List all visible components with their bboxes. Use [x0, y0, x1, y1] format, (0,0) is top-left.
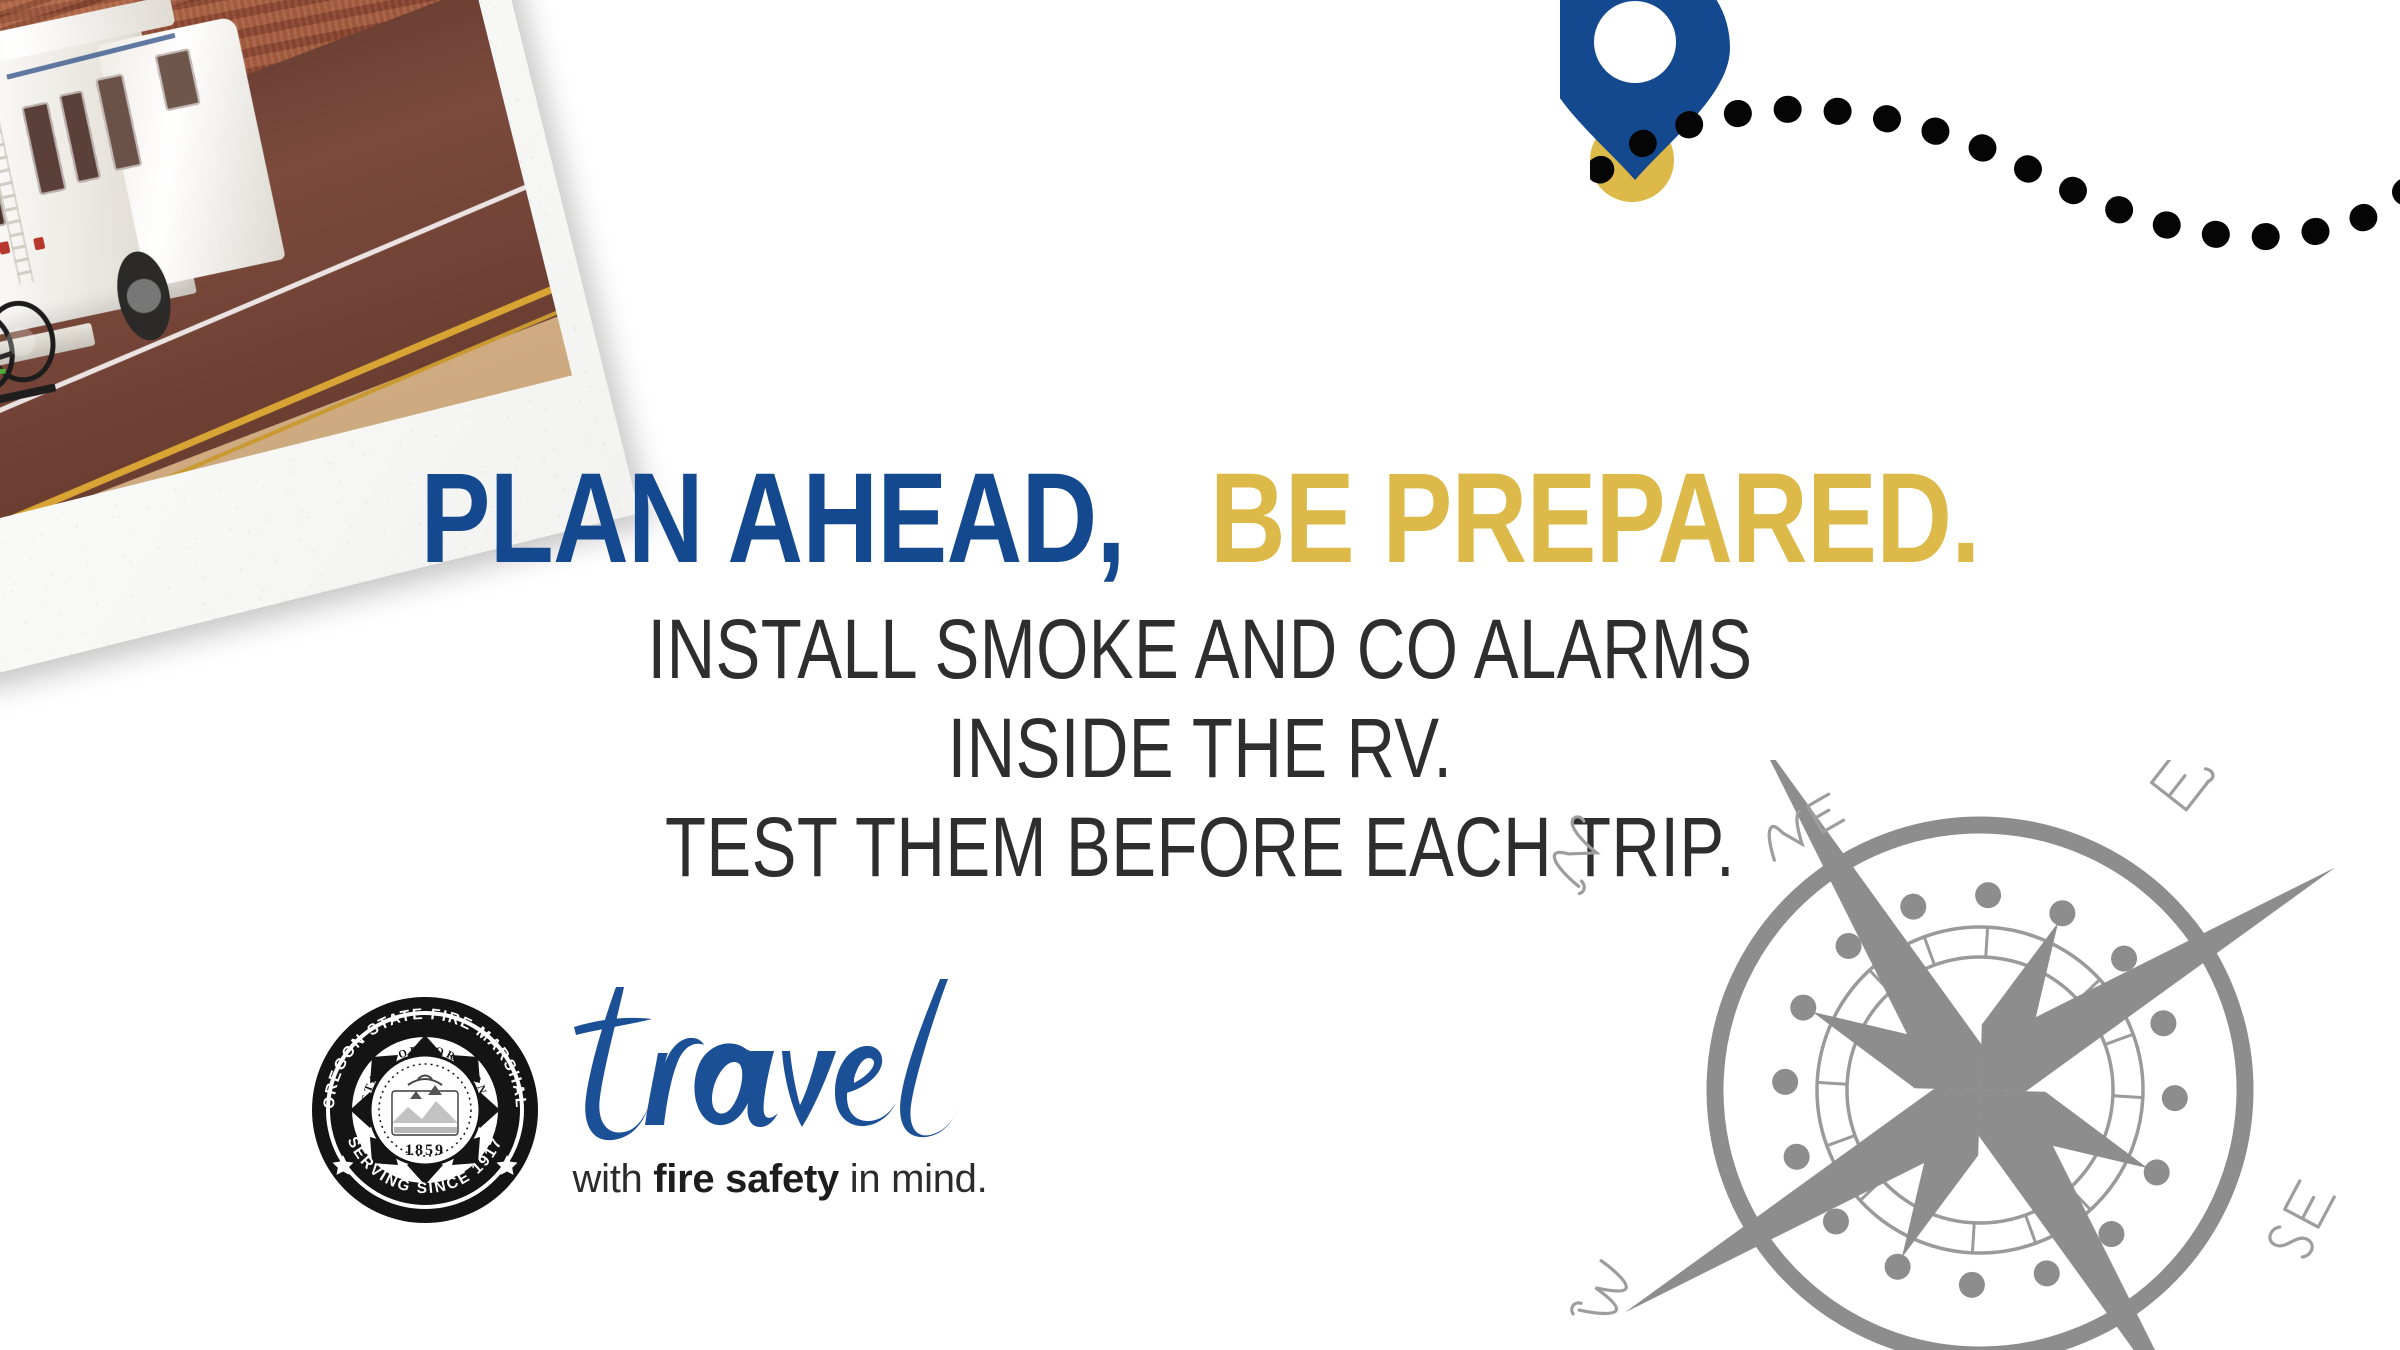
headline-part-2: BE PREPARED.: [1210, 447, 1980, 590]
seal-svg: 1859 OREGON STATE FIRE MARSHAL SERVING S…: [310, 995, 540, 1225]
compass-svg: [1480, 760, 2400, 1350]
headline-part-1: PLAN AHEAD,: [420, 447, 1124, 590]
travel-script-strokes: [574, 979, 958, 1140]
travel-brand-lockup: with fire safety in mind.: [560, 975, 1000, 1225]
bike-wheel-3: [0, 294, 63, 389]
tagline-suffix: in mind.: [839, 1157, 987, 1201]
tagline-prefix: with: [573, 1157, 654, 1201]
page-headline: PLAN AHEAD, BE PREPARED.: [216, 455, 2184, 583]
seal-year: 1859: [405, 1142, 445, 1159]
compass-label-w: [1570, 1258, 1632, 1330]
tagline-bold: fire safety: [653, 1157, 839, 1201]
dotted-route-path: [1590, 60, 2400, 360]
travel-tagline: with fire safety in mind.: [560, 1157, 1000, 1202]
oregon-state-fire-marshal-seal: 1859 OREGON STATE FIRE MARSHAL SERVING S…: [310, 995, 540, 1225]
compass-label-se: [2267, 1179, 2339, 1261]
subhead-line-1: INSTALL SMOKE AND CO ALARMS: [240, 600, 2160, 699]
compass-label-n: [1544, 815, 1613, 895]
route-dots: [1600, 109, 2400, 236]
compass-rose-graphic: [1480, 760, 2400, 1350]
poster-canvas: PLAN AHEAD, BE PREPARED. INSTALL SMOKE A…: [0, 0, 2400, 1350]
compass-label-e: [2151, 760, 2216, 810]
travel-script-wordmark: [560, 975, 980, 1165]
compass-ordinal-needles: [1512, 760, 2400, 1350]
